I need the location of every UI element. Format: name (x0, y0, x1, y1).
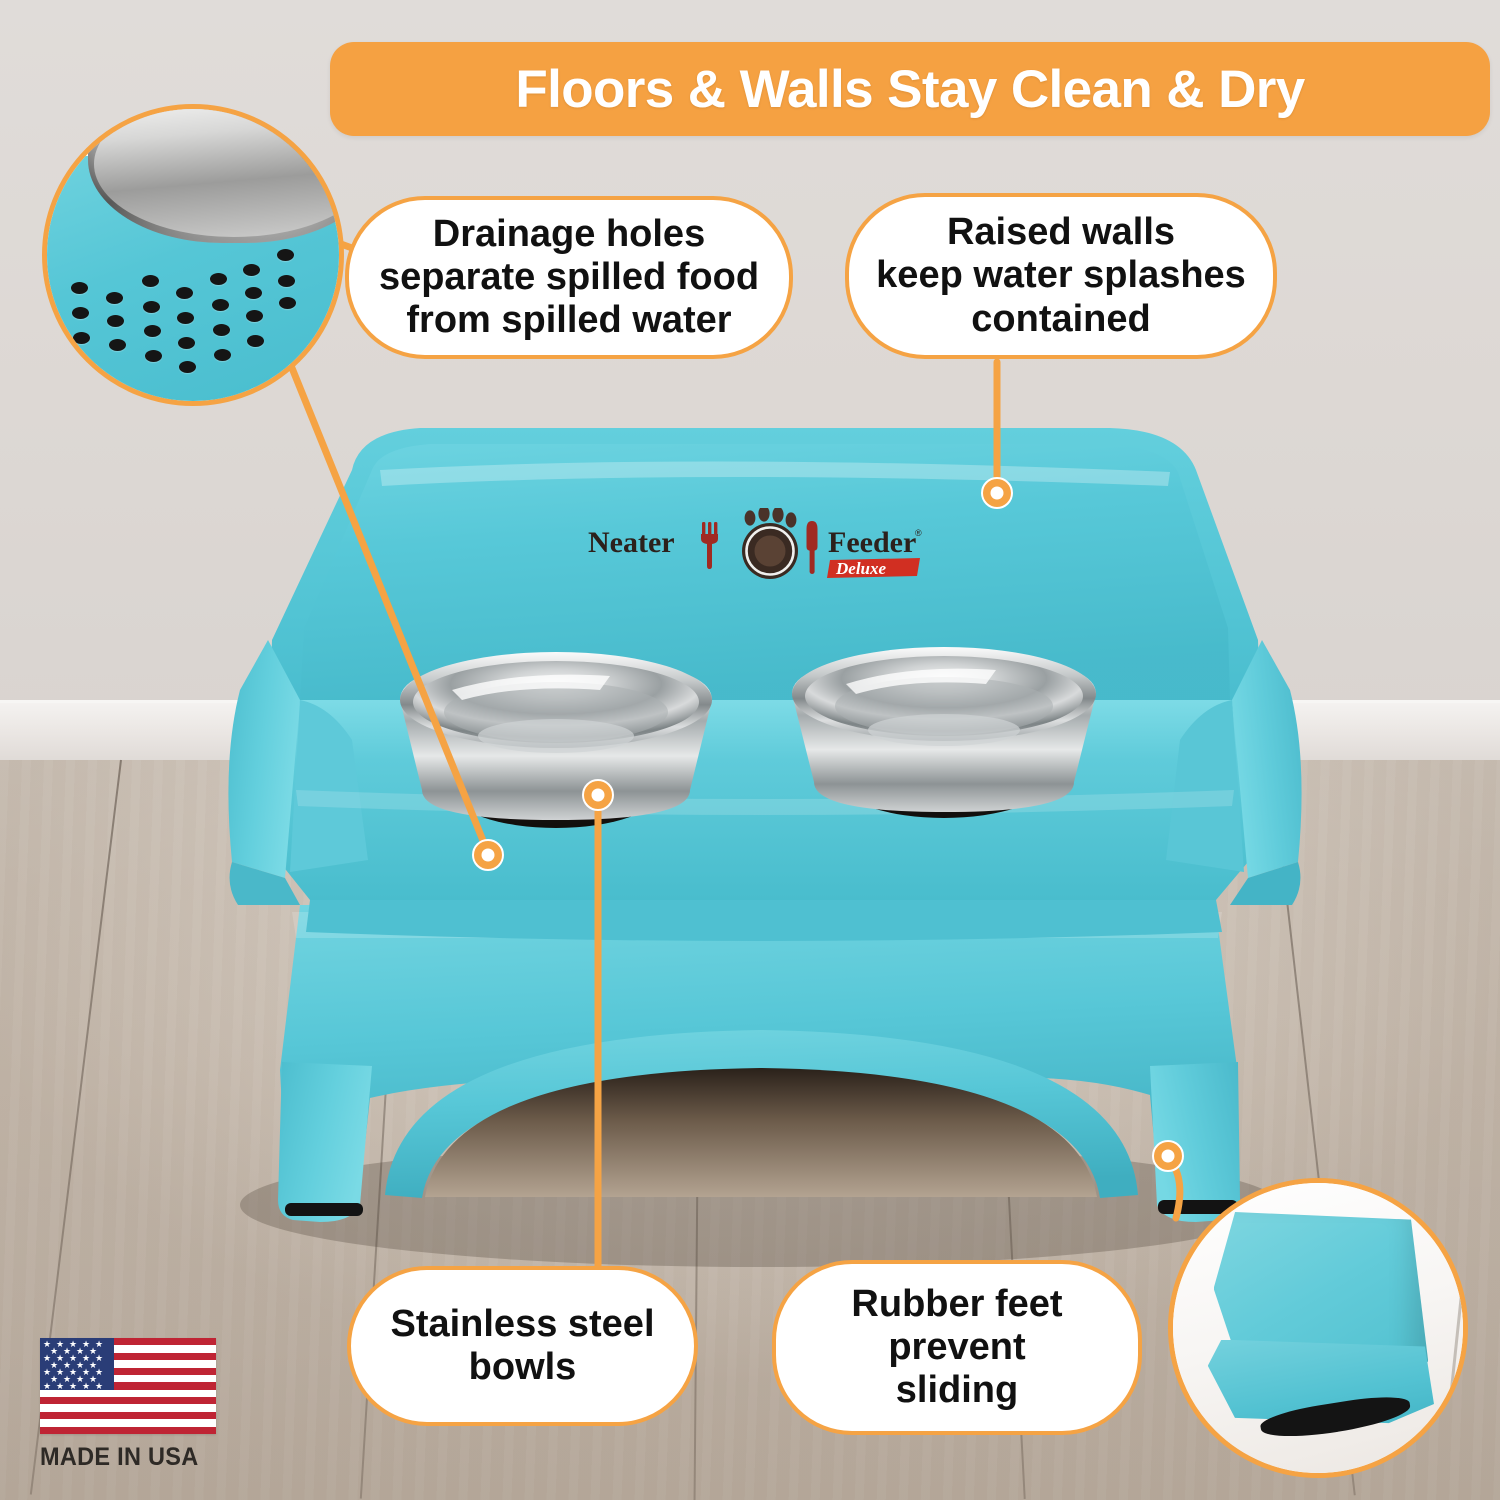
leg-front-left (278, 1062, 372, 1222)
callout-line-1: Raised walls (876, 211, 1246, 254)
logo-word-feeder: Feeder (828, 526, 916, 559)
made-in-usa-label: MADE IN USA (40, 1443, 209, 1472)
logo-deluxe-banner: Deluxe (827, 558, 920, 578)
callout-line-2: separate spilled food (379, 256, 759, 299)
flag-canton: ★ ★ ★ ★ ★ ★ ★ ★ ★ ★ ★ ★ ★ ★ ★ ★ ★ ★ ★ ★ (40, 1338, 114, 1390)
drainage-holes-closeup-inset (42, 104, 344, 406)
bowl-right-bottom (868, 714, 1020, 746)
callout-line-2: bowls (390, 1346, 654, 1389)
rubber-foot-closeup-inset (1168, 1178, 1468, 1478)
callout-line-3: from spilled water (379, 299, 759, 342)
callout-raised-walls: Raised walls keep water splashes contain… (845, 193, 1277, 359)
callout-line-3: contained (876, 298, 1246, 341)
fork-icon (701, 522, 718, 569)
paw-plate-icon (742, 508, 798, 579)
feeder-front-lip (306, 900, 1222, 941)
rubber-foot-left (285, 1203, 363, 1216)
made-in-usa-badge: ★ ★ ★ ★ ★ ★ ★ ★ ★ ★ ★ ★ ★ ★ ★ ★ ★ ★ ★ ★ (40, 1338, 220, 1472)
callout-stainless-steel-bowls: Stainless steel bowls (347, 1266, 698, 1426)
header-banner: Floors & Walls Stay Clean & Dry (330, 42, 1490, 136)
callout-line-2: prevent (851, 1326, 1062, 1369)
callout-line-3: sliding (851, 1369, 1062, 1412)
bowl-left-bottom (478, 719, 634, 753)
callout-line-1: Rubber feet (851, 1283, 1062, 1326)
neater-feeder-logo: Neater Feeder ® Deluxe (584, 508, 924, 590)
callout-drainage-holes: Drainage holes separate spilled food fro… (345, 196, 793, 359)
us-flag-icon: ★ ★ ★ ★ ★ ★ ★ ★ ★ ★ ★ ★ ★ ★ ★ ★ ★ ★ ★ ★ (40, 1338, 216, 1434)
logo-registered-mark: ® (915, 528, 922, 538)
infographic-canvas: Neater Feeder ® Deluxe (0, 0, 1500, 1500)
logo-word-neater: Neater (588, 526, 675, 559)
logo-word-deluxe: Deluxe (835, 559, 887, 578)
callout-rubber-feet: Rubber feet prevent sliding (772, 1260, 1142, 1435)
callout-line-1: Stainless steel (390, 1303, 654, 1346)
callout-line-1: Drainage holes (379, 213, 759, 256)
knife-icon (807, 521, 818, 574)
callout-line-2: keep water splashes (876, 254, 1246, 297)
page-title: Floors & Walls Stay Clean & Dry (515, 63, 1304, 116)
